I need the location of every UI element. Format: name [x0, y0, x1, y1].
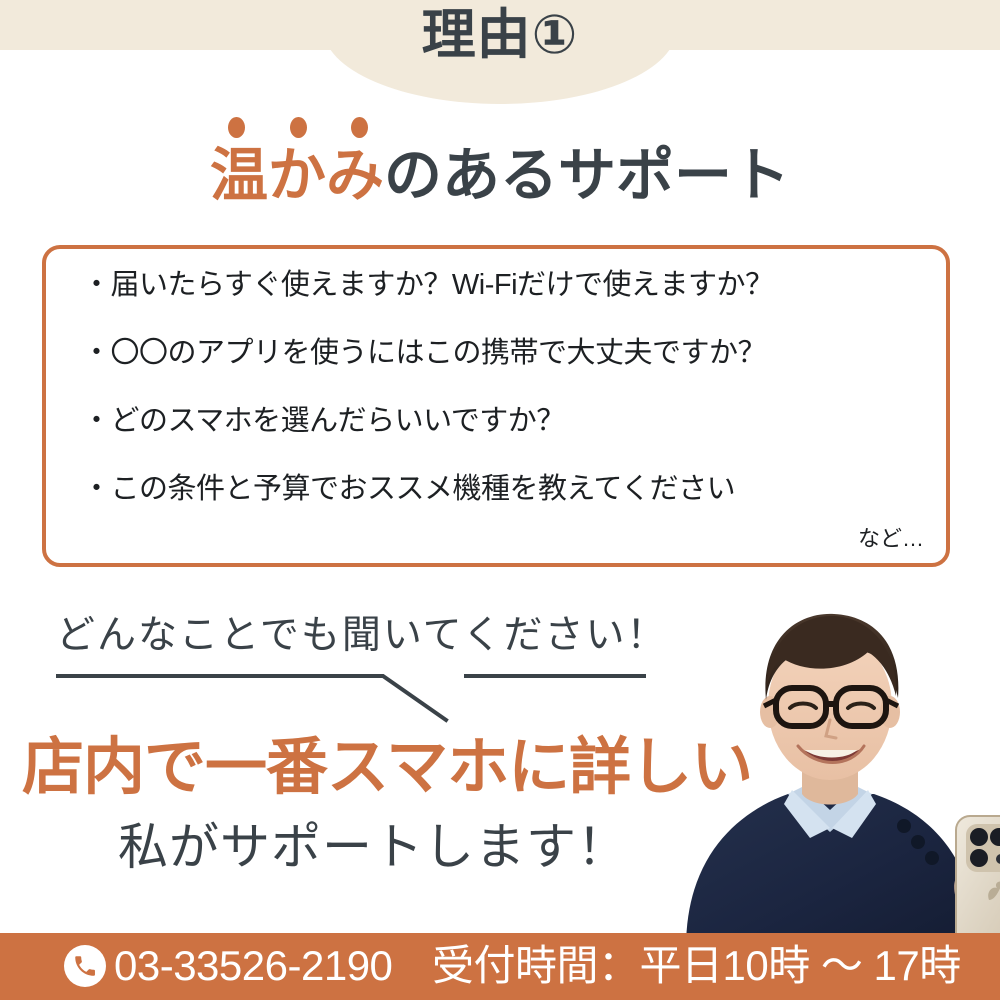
etcetera-label: など… — [858, 521, 924, 553]
list-item: ・この条件と予算でおススメ機種を教えてください — [82, 475, 942, 504]
phone-icon[interactable] — [64, 945, 106, 987]
question-list-box: ・届いたらすぐ使えますか？Wi-Fiだけで使えますか？ ・〇〇のアプリを使うには… — [42, 245, 950, 567]
closing-subheadline: 私がサポートします！ — [118, 822, 628, 872]
decorative-dots — [228, 116, 368, 138]
list-item: ・どのスマホを選んだらいいですか？ — [82, 407, 942, 436]
question-list: ・届いたらすぐ使えますか？Wi-Fiだけで使えますか？ ・〇〇のアプリを使うには… — [82, 271, 942, 504]
subtitle-rest: のあるサポート — [384, 143, 790, 208]
speech-bubble-rule — [50, 670, 660, 726]
closing-headline: 店内で一番スマホに詳しい — [22, 737, 752, 799]
dot-icon-3 — [351, 117, 368, 138]
ask-anything-text: どんなことでも聞いてください！ — [56, 604, 668, 660]
list-item: ・届いたらすぐ使えますか？Wi-Fiだけで使えますか？ — [82, 271, 942, 300]
list-item: ・〇〇のアプリを使うにはこの携帯で大丈夫ですか？ — [82, 339, 942, 368]
staff-photo — [660, 588, 1000, 948]
contact-footer-bar: 03-33526-2190 受付時間：平日10時 〜 17時 — [0, 933, 1000, 1000]
phone-number[interactable]: 03-33526-2190 — [114, 944, 392, 988]
subtitle-accent: 温かみ — [210, 143, 384, 208]
page-title: 理由① — [0, 8, 1000, 62]
dot-icon-2 — [290, 117, 307, 138]
dot-icon-1 — [228, 117, 245, 138]
section-subtitle: 温かみのあるサポート — [0, 143, 1000, 210]
business-hours: 受付時間：平日10時 〜 17時 — [432, 944, 961, 988]
